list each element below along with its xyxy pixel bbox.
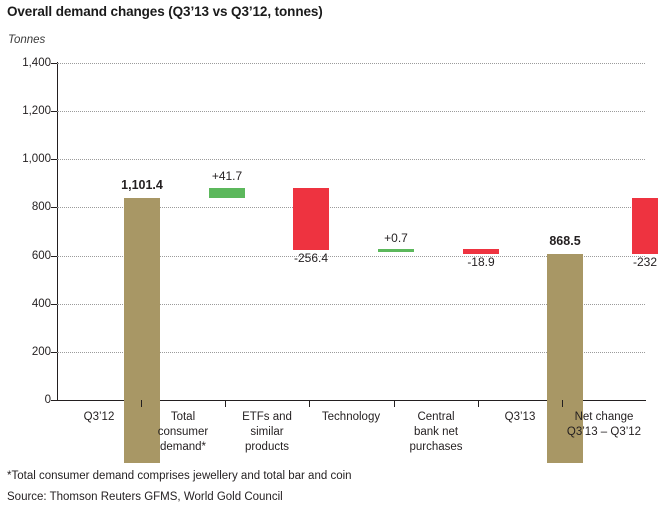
y-axis-tick-label: 600 [5,250,51,262]
bar-total-consumer-demand[interactable] [209,188,245,198]
y-axis-tick-label: 1,400 [5,57,51,69]
x-axis-label-q3-13: Q3’13 [478,410,562,425]
x-axis-label-central-bank-net-purchases: Centralbank netpurchases [394,410,478,455]
x-axis-tick-mark [225,400,226,407]
y-axis-tick-label: 0 [5,394,51,406]
x-axis-label-line: consumer [141,425,225,440]
y-axis-tick-label: 200 [5,346,51,358]
y-axis-tick-label: 1,000 [5,153,51,165]
bar-value-label-central-bank-net-purchases: -18.9 [450,255,512,269]
y-axis-unit-label: Tonnes [8,34,45,46]
gridline-1000 [57,159,645,160]
x-axis-tick-mark [394,400,395,407]
x-axis-tick-mark [141,400,142,407]
x-axis-label-line: Central [394,410,478,425]
bar-value-label-etfs-and-similar-products: -256.4 [280,251,342,265]
gridline-1200 [57,111,645,112]
y-axis-tick-mark [51,304,57,305]
y-axis-tick-label: 1,200 [5,105,51,117]
x-axis-label-line: demand* [141,440,225,455]
bar-central-bank-net-purchases[interactable] [463,249,499,254]
x-axis-label-line: Q3’13 – Q3’12 [562,425,646,440]
y-axis-tick-mark [51,111,57,112]
y-axis-tick-label: 800 [5,201,51,213]
x-axis-label-line: bank net [394,425,478,440]
x-axis-label-total-consumer-demand: Totalconsumerdemand* [141,410,225,455]
y-axis-tick-mark [51,256,57,257]
y-axis-tick-mark [51,159,57,160]
y-axis-tick-mark [51,63,57,64]
gridline-1400 [57,63,645,64]
bar-value-label-technology: +0.7 [365,231,427,245]
x-axis-label-etfs-and-similar-products: ETFs andsimilarproducts [225,410,309,455]
footnote-total-consumer-demand: *Total consumer demand comprises jewelle… [7,470,352,482]
x-axis-label-line: products [225,440,309,455]
bar-value-label-net-change: -232.9 [619,255,658,269]
y-axis-tick-label: 400 [5,298,51,310]
x-axis-label-line: Net change [562,410,646,425]
bar-net-change[interactable] [632,198,658,254]
plot-area: 1,101.4+41.7-256.4+0.7-18.9868.5-232.9 [57,63,645,400]
bar-value-label-q3-13: 868.5 [534,234,596,248]
x-axis-label-line: ETFs and [225,410,309,425]
x-axis-label-line: similar [225,425,309,440]
x-axis-label-technology: Technology [309,410,393,425]
x-axis-tick-mark [478,400,479,407]
x-axis-tick-mark [562,400,563,407]
bar-technology[interactable] [378,249,414,252]
bar-value-label-q3-12: 1,101.4 [111,178,173,192]
bar-etfs-and-similar-products[interactable] [293,188,329,250]
y-axis-tick-mark [51,352,57,353]
x-axis-label-line: Q3’12 [57,410,141,425]
x-axis-label-line: Q3’13 [478,410,562,425]
x-axis-tick-mark [309,400,310,407]
x-axis-categories: Q3’12Totalconsumerdemand*ETFs andsimilar… [57,400,646,470]
footnote-source: Source: Thomson Reuters GFMS, World Gold… [7,491,283,503]
x-axis-label-line: Technology [309,410,393,425]
y-axis-tick-mark [51,207,57,208]
chart-title: Overall demand changes (Q3’13 vs Q3’12, … [7,4,323,19]
x-axis-label-line: Total [141,410,225,425]
y-axis-ticks: 1,4001,2001,0008006004002000 [0,63,51,400]
bar-value-label-total-consumer-demand: +41.7 [196,169,258,183]
x-axis-label-line: purchases [394,440,478,455]
x-axis-label-q3-12: Q3’12 [57,410,141,425]
x-axis-label-net-change: Net changeQ3’13 – Q3’12 [562,410,646,440]
